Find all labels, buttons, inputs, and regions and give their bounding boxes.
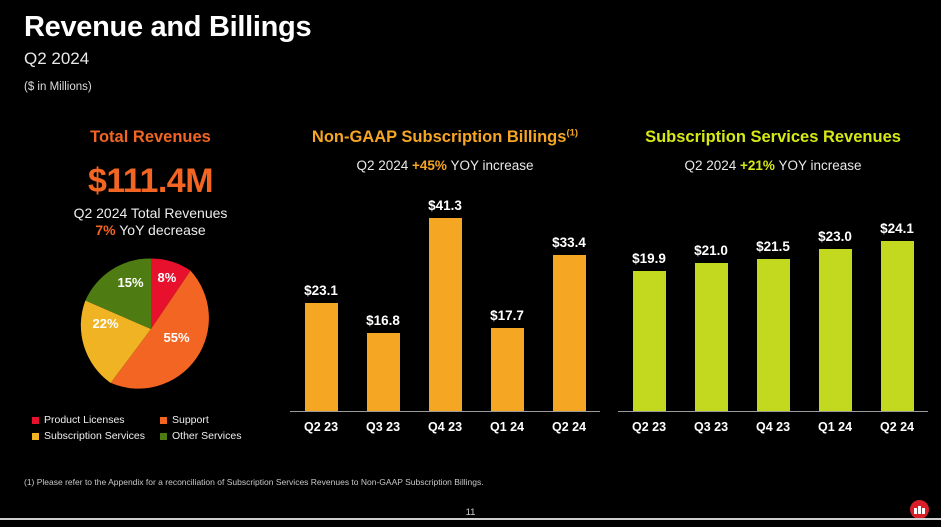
- bar-rect[interactable]: [695, 263, 728, 411]
- legend-label-other-services: Other Services: [172, 430, 241, 442]
- bar-value-label: $23.0: [818, 229, 852, 244]
- yoy-decrease-pct: 7%: [95, 222, 115, 238]
- subscription-services-panel: Subscription Services Revenues Q2 2024 +…: [618, 128, 928, 434]
- subscription-billings-title: Non-GAAP Subscription Billings(1): [290, 128, 600, 146]
- bar-column[interactable]: $16.8: [367, 333, 400, 411]
- page-number: 11: [0, 507, 941, 518]
- legend-swatch-support: [160, 417, 167, 424]
- yoy-decrease-text: YoY decrease: [116, 222, 206, 238]
- bar-column[interactable]: $33.4: [553, 255, 586, 411]
- bar-rect[interactable]: [819, 249, 852, 411]
- bar-category-label: Q2 23: [304, 420, 338, 434]
- revenue-mix-pie-chart: 8% 55% 22% 15%: [76, 254, 226, 404]
- total-revenues-caption: Q2 2024 Total Revenues: [18, 205, 283, 221]
- legend-swatch-product-licenses: [32, 417, 39, 424]
- bar-rect[interactable]: [553, 255, 586, 411]
- billings-yoy-prefix: Q2 2024: [356, 158, 412, 173]
- legend-item-subscription-services: Subscription Services: [32, 430, 160, 442]
- bar-column[interactable]: $17.7: [491, 328, 524, 411]
- bar-column[interactable]: $21.0: [695, 263, 728, 411]
- bar-value-label: $19.9: [632, 251, 666, 266]
- bar-rect[interactable]: [429, 218, 462, 411]
- bar-category-label: Q2 23: [632, 420, 666, 434]
- billings-yoy-suffix: YOY increase: [447, 158, 534, 173]
- footnote-marker-1: (1): [566, 128, 578, 139]
- total-revenues-value: $111.4M: [18, 162, 283, 201]
- legend-swatch-other-services: [160, 433, 167, 440]
- total-revenues-panel: Total Revenues $111.4M Q2 2024 Total Rev…: [18, 128, 283, 442]
- pie-label-support: 55%: [164, 330, 190, 345]
- bar-column[interactable]: $23.0: [819, 249, 852, 411]
- bar-value-label: $16.8: [366, 313, 400, 328]
- bar-column[interactable]: $24.1: [881, 241, 914, 411]
- logo-bar-1: [914, 508, 917, 514]
- slide-canvas: Revenue and Billings Q2 2024 ($ in Milli…: [0, 0, 941, 527]
- subscription-services-bar-chart: $19.9Q2 23$21.0Q3 23$21.5Q4 23$23.0Q1 24…: [618, 179, 928, 434]
- bar-category-label: Q1 24: [490, 420, 524, 434]
- subscription-billings-bar-chart: $23.1Q2 23$16.8Q3 23$41.3Q4 23$17.7Q1 24…: [290, 179, 600, 434]
- pie-label-other-services: 15%: [118, 275, 144, 290]
- legend-item-support: Support: [160, 414, 278, 426]
- bar-rect[interactable]: [491, 328, 524, 411]
- total-revenues-yoy: 7% YoY decrease: [18, 222, 283, 238]
- bar-value-label: $24.1: [880, 221, 914, 236]
- bar-rect[interactable]: [305, 303, 338, 411]
- bar-category-label: Q4 23: [756, 420, 790, 434]
- billings-yoy-pct: +45%: [412, 158, 447, 173]
- legend-item-product-licenses: Product Licenses: [32, 414, 160, 426]
- legend-label-subscription-services: Subscription Services: [44, 430, 145, 442]
- page-subtitle: Q2 2024: [24, 49, 311, 69]
- bar-value-label: $41.3: [428, 198, 462, 213]
- chart-axis-line: [290, 411, 600, 412]
- bar-category-label: Q1 24: [818, 420, 852, 434]
- bar-category-label: Q2 24: [552, 420, 586, 434]
- logo-bar-3: [922, 508, 925, 514]
- bar-column[interactable]: $21.5: [757, 259, 790, 411]
- bar-value-label: $23.1: [304, 283, 338, 298]
- slide-header: Revenue and Billings Q2 2024 ($ in Milli…: [24, 12, 311, 93]
- bar-category-label: Q4 23: [428, 420, 462, 434]
- bar-column[interactable]: $19.9: [633, 271, 666, 411]
- bar-rect[interactable]: [367, 333, 400, 411]
- pie-label-product-licenses: 8%: [158, 270, 177, 285]
- bottom-rule: [0, 518, 941, 520]
- total-revenues-title: Total Revenues: [18, 128, 283, 146]
- subscription-billings-panel: Non-GAAP Subscription Billings(1) Q2 202…: [290, 128, 600, 434]
- bar-value-label: $17.7: [490, 308, 524, 323]
- pie-label-subscription-services: 22%: [93, 316, 119, 331]
- bar-category-label: Q3 23: [366, 420, 400, 434]
- pie-legend: Product Licenses Support Subscription Se…: [18, 414, 283, 442]
- bar-rect[interactable]: [881, 241, 914, 411]
- bar-column[interactable]: $23.1: [305, 303, 338, 411]
- footnote-text: (1) Please refer to the Appendix for a r…: [24, 477, 484, 487]
- bar-category-label: Q2 24: [880, 420, 914, 434]
- legend-label-product-licenses: Product Licenses: [44, 414, 125, 426]
- subscription-services-title: Subscription Services Revenues: [618, 128, 928, 146]
- bar-value-label: $21.0: [694, 243, 728, 258]
- services-yoy-suffix: YOY increase: [775, 158, 862, 173]
- page-title: Revenue and Billings: [24, 12, 311, 42]
- subscription-services-yoy: Q2 2024 +21% YOY increase: [618, 158, 928, 173]
- legend-label-support: Support: [172, 414, 209, 426]
- legend-item-other-services: Other Services: [160, 430, 278, 442]
- chart-axis-line: [618, 411, 928, 412]
- subscription-billings-yoy: Q2 2024 +45% YOY increase: [290, 158, 600, 173]
- bar-category-label: Q3 23: [694, 420, 728, 434]
- units-note: ($ in Millions): [24, 81, 311, 93]
- bar-rect[interactable]: [633, 271, 666, 411]
- legend-swatch-subscription-services: [32, 433, 39, 440]
- bar-column[interactable]: $41.3: [429, 218, 462, 411]
- services-yoy-pct: +21%: [740, 158, 775, 173]
- subscription-billings-title-text: Non-GAAP Subscription Billings: [312, 128, 567, 146]
- logo-bar-2: [918, 506, 921, 515]
- bar-value-label: $21.5: [756, 239, 790, 254]
- company-logo-icon: [910, 500, 929, 519]
- bar-rect[interactable]: [757, 259, 790, 411]
- bar-value-label: $33.4: [552, 235, 586, 250]
- services-yoy-prefix: Q2 2024: [684, 158, 740, 173]
